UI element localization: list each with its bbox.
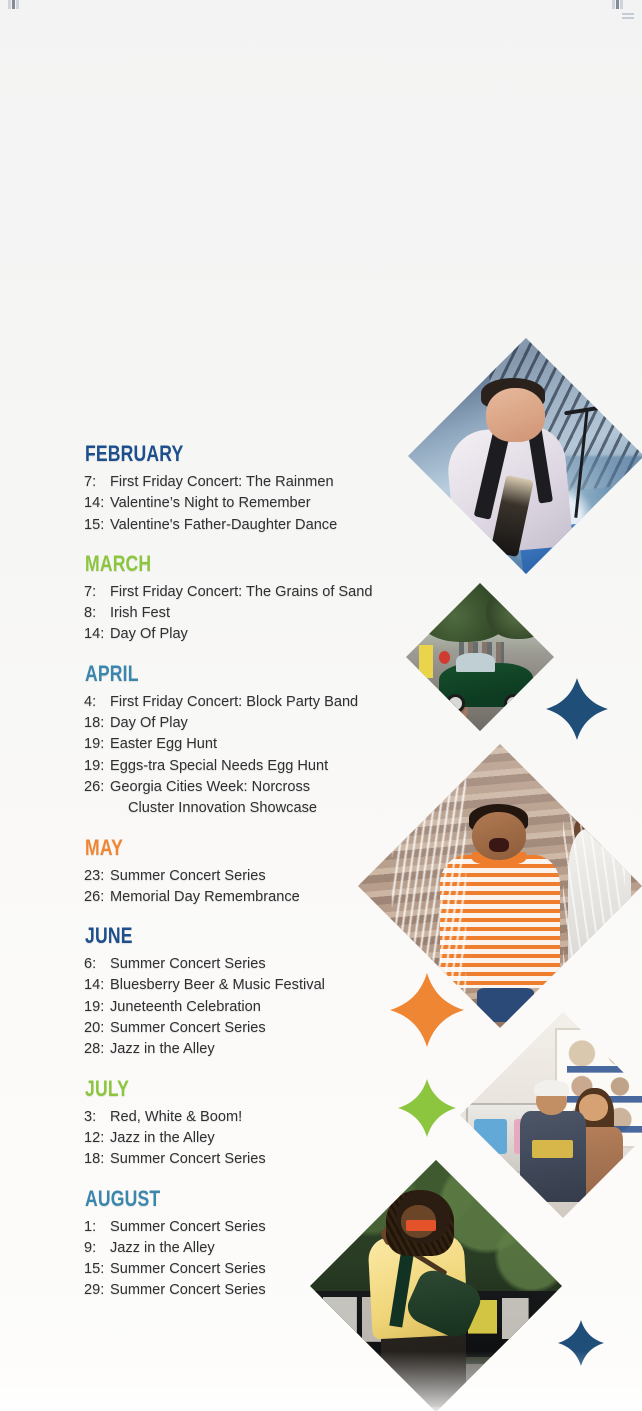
event-title: Bluesberry Beer & Music Festival — [110, 975, 514, 996]
event-list: 7:First Friday Concert: The Grains of Sa… — [84, 582, 514, 646]
event-item: 8:Irish Fest — [84, 603, 514, 624]
event-day: 4: — [84, 692, 110, 713]
month-heading: MARCH — [85, 553, 428, 575]
event-title: Jazz in the Alley — [110, 1128, 514, 1149]
event-title: Summer Concert Series — [110, 866, 514, 887]
event-day: 20: — [84, 1018, 110, 1039]
event-title: Summer Concert Series — [110, 1018, 514, 1039]
month-heading: FEBRUARY — [85, 443, 428, 465]
registration-mark-bars — [622, 13, 634, 21]
event-title: Red, White & Boom! — [110, 1107, 514, 1128]
event-title: Memorial Day Remembrance — [110, 887, 514, 908]
event-list: 3:Red, White & Boom!12:Jazz in the Alley… — [84, 1107, 514, 1171]
event-title: Valentine’s Night to Remember — [110, 493, 514, 514]
event-item: 29:Summer Concert Series — [84, 1280, 514, 1301]
event-day: 1: — [84, 1217, 110, 1238]
event-item: 19:Juneteenth Celebration — [84, 997, 514, 1018]
month-heading: AUGUST — [85, 1188, 428, 1210]
event-item: 28:Jazz in the Alley — [84, 1039, 514, 1060]
event-title: Summer Concert Series — [110, 1149, 514, 1170]
event-day: 14: — [84, 493, 110, 514]
event-list: 4:First Friday Concert: Block Party Band… — [84, 692, 514, 820]
event-item: 7:First Friday Concert: The Rainmen — [84, 472, 514, 493]
event-day: 19: — [84, 734, 110, 755]
event-day: 29: — [84, 1280, 110, 1301]
event-item: Cluster Innovation Showcase — [84, 798, 514, 819]
event-day: 19: — [84, 756, 110, 777]
event-title: Summer Concert Series — [110, 954, 514, 975]
month-section-april: APRIL4:First Friday Concert: Block Party… — [84, 663, 514, 820]
event-day: 15: — [84, 1259, 110, 1280]
event-title: Georgia Cities Week: Norcross — [110, 777, 514, 798]
diamond-accent-navy-1 — [546, 678, 608, 740]
event-item: 18:Day Of Play — [84, 713, 514, 734]
event-item: 1:Summer Concert Series — [84, 1217, 514, 1238]
event-day: 7: — [84, 582, 110, 603]
event-title: Jazz in the Alley — [110, 1039, 514, 1060]
event-day: 28: — [84, 1039, 110, 1060]
event-title: Eggs-tra Special Needs Egg Hunt — [110, 756, 514, 777]
event-title: First Friday Concert: Block Party Band — [110, 692, 514, 713]
event-item: 20:Summer Concert Series — [84, 1018, 514, 1039]
event-item: 23:Summer Concert Series — [84, 866, 514, 887]
event-day: 9: — [84, 1238, 110, 1259]
event-item: 26:Georgia Cities Week: Norcross — [84, 777, 514, 798]
event-item: 14:Bluesberry Beer & Music Festival — [84, 975, 514, 996]
month-section-may: MAY23:Summer Concert Series26:Memorial D… — [84, 837, 514, 909]
event-title: Summer Concert Series — [110, 1280, 514, 1301]
event-day: 12: — [84, 1128, 110, 1149]
event-item: 14:Valentine’s Night to Remember — [84, 493, 514, 514]
month-section-february: FEBRUARY7:First Friday Concert: The Rain… — [84, 443, 514, 536]
event-list: 1:Summer Concert Series9:Jazz in the All… — [84, 1217, 514, 1302]
event-day: 3: — [84, 1107, 110, 1128]
month-section-june: JUNE6:Summer Concert Series14:Bluesberry… — [84, 925, 514, 1060]
month-heading: JUNE — [85, 925, 428, 947]
event-title: Day Of Play — [110, 713, 514, 734]
event-list: 23:Summer Concert Series26:Memorial Day … — [84, 866, 514, 909]
event-title: Summer Concert Series — [110, 1217, 514, 1238]
event-title: Cluster Innovation Showcase — [110, 798, 514, 819]
event-item: 19:Eggs-tra Special Needs Egg Hunt — [84, 756, 514, 777]
event-day: 19: — [84, 997, 110, 1018]
event-title: Jazz in the Alley — [110, 1238, 514, 1259]
month-heading: MAY — [85, 837, 428, 859]
event-list: 6:Summer Concert Series14:Bluesberry Bee… — [84, 954, 514, 1060]
event-title: Juneteenth Celebration — [110, 997, 514, 1018]
event-item: 14:Day Of Play — [84, 624, 514, 645]
month-section-march: MARCH7:First Friday Concert: The Grains … — [84, 553, 514, 646]
month-heading: JULY — [85, 1078, 428, 1100]
event-item: 15:Valentine's Father-Daughter Dance — [84, 515, 514, 536]
event-item: 7:First Friday Concert: The Grains of Sa… — [84, 582, 514, 603]
event-day: 18: — [84, 1149, 110, 1170]
event-item: 3:Red, White & Boom! — [84, 1107, 514, 1128]
event-day: 14: — [84, 975, 110, 996]
event-list: 7:First Friday Concert: The Rainmen14:Va… — [84, 472, 514, 536]
event-day: 23: — [84, 866, 110, 887]
event-day: 14: — [84, 624, 110, 645]
event-item: 26:Memorial Day Remembrance — [84, 887, 514, 908]
event-day: 6: — [84, 954, 110, 975]
event-item: 12:Jazz in the Alley — [84, 1128, 514, 1149]
event-day: 7: — [84, 472, 110, 493]
event-item: 15:Summer Concert Series — [84, 1259, 514, 1280]
event-schedule: FEBRUARY7:First Friday Concert: The Rain… — [84, 443, 514, 1319]
event-day: 26: — [84, 887, 110, 908]
event-item: 9:Jazz in the Alley — [84, 1238, 514, 1259]
event-item: 18:Summer Concert Series — [84, 1149, 514, 1170]
event-day: 26: — [84, 777, 110, 798]
event-title: First Friday Concert: The Grains of Sand — [110, 582, 514, 603]
event-title: Irish Fest — [110, 603, 514, 624]
month-section-august: AUGUST1:Summer Concert Series9:Jazz in t… — [84, 1188, 514, 1302]
event-day: 15: — [84, 515, 110, 536]
event-title: First Friday Concert: The Rainmen — [110, 472, 514, 493]
event-item: 4:First Friday Concert: Block Party Band — [84, 692, 514, 713]
event-item: 19:Easter Egg Hunt — [84, 734, 514, 755]
lineup-poster: FEBRUARY7:First Friday Concert: The Rain… — [0, 0, 642, 1411]
registration-mark-left — [8, 0, 20, 9]
event-day: 18: — [84, 713, 110, 734]
event-title: Day Of Play — [110, 624, 514, 645]
month-heading: APRIL — [85, 663, 428, 685]
month-section-july: JULY3:Red, White & Boom!12:Jazz in the A… — [84, 1078, 514, 1171]
event-item: 6:Summer Concert Series — [84, 954, 514, 975]
event-title: Summer Concert Series — [110, 1259, 514, 1280]
diamond-accent-navy-2 — [558, 1320, 604, 1366]
event-title: Valentine's Father-Daughter Dance — [110, 515, 514, 536]
event-title: Easter Egg Hunt — [110, 734, 514, 755]
registration-mark-right — [612, 0, 624, 9]
event-day: 8: — [84, 603, 110, 624]
